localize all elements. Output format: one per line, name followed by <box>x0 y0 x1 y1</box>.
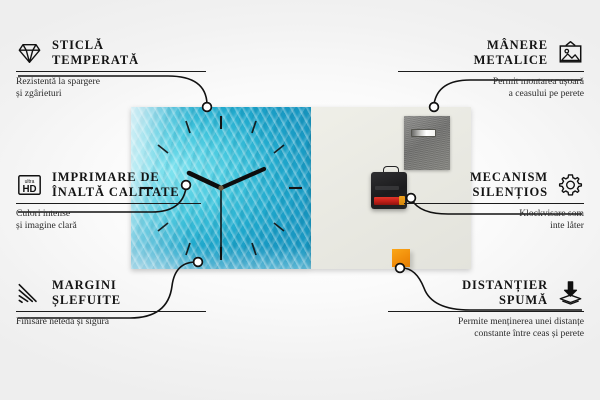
feature-title-line1: MECANISM <box>470 170 548 185</box>
feature-title-row: MARGINI ȘLEFUITE <box>16 278 206 307</box>
diamond-icon <box>16 40 43 66</box>
feature-title-line1: MARGINI <box>52 278 121 293</box>
down-arrow-layer-icon <box>557 280 584 306</box>
feature-subtitle-line1: Klockvisare som <box>404 208 584 220</box>
feature-foam-spacer: DISTANȚIER SPUMĂ Permite menținerea unei… <box>388 278 584 340</box>
feature-title-row: ultra HD IMPRIMARE DE ÎNALTĂ CALITATE <box>16 170 201 199</box>
feature-title-line1: STICLĂ <box>52 38 139 53</box>
feature-title-line2: ȘLEFUITE <box>52 293 121 308</box>
feature-title-line1: MÂNERE <box>474 38 548 53</box>
feature-high-quality-print: ultra HD IMPRIMARE DE ÎNALTĂ CALITATE Cu… <box>16 170 201 232</box>
infographic-canvas: STICLĂ TEMPERATĂ Rezistentă la spargere … <box>0 0 600 400</box>
gear-icon <box>557 172 584 198</box>
feature-title-row: MÂNERE METALICE <box>398 38 584 67</box>
hanging-frame-icon <box>557 40 584 66</box>
feature-subtitle-line1: Permit montarea ușoară <box>398 76 584 88</box>
title-divider <box>404 203 584 204</box>
title-divider <box>388 311 584 312</box>
feature-polished-edges: MARGINI ȘLEFUITE Finisare netedă și sigu… <box>16 278 206 328</box>
anchor-handles <box>430 103 439 112</box>
feature-tempered-glass: STICLĂ TEMPERATĂ Rezistentă la spargere … <box>16 38 206 100</box>
feature-title-row: MECANISM SILENȚIOS <box>404 170 584 199</box>
polished-edges-icon <box>16 280 43 306</box>
anchor-edges <box>194 258 203 267</box>
feature-title-line2: SILENȚIOS <box>470 185 548 200</box>
feature-title-line2: ÎNALTĂ CALITATE <box>52 185 180 200</box>
feature-title-line2: METALICE <box>474 53 548 68</box>
feature-subtitle-line1: Finisare netedă și sigură <box>16 316 206 328</box>
feature-title-row: STICLĂ TEMPERATĂ <box>16 38 206 67</box>
feature-silent-mechanism: MECANISM SILENȚIOS Klockvisare som inte … <box>404 170 584 232</box>
feature-title-line1: IMPRIMARE DE <box>52 170 180 185</box>
title-divider <box>398 71 584 72</box>
title-divider <box>16 311 206 312</box>
feature-subtitle-line2: a ceasului pe perete <box>398 88 584 100</box>
feature-subtitle-line1: Rezistentă la spargere <box>16 76 206 88</box>
ultra-hd-icon: ultra HD <box>16 172 43 198</box>
feature-metal-handles: MÂNERE METALICE Permit montarea ușoară a… <box>398 38 584 100</box>
feature-title-line2: TEMPERATĂ <box>52 53 139 68</box>
feature-subtitle-line1: Permite menținerea unei distanțe <box>388 316 584 328</box>
title-divider <box>16 203 201 204</box>
feature-subtitle-line2: inte låter <box>404 220 584 232</box>
feature-title-row: DISTANȚIER SPUMĂ <box>388 278 584 307</box>
anchor-spacer <box>396 264 405 273</box>
feature-subtitle-line2: constante între ceas și perete <box>388 328 584 340</box>
feature-subtitle-line2: și imagine clară <box>16 220 201 232</box>
feature-subtitle-line1: Culori intense <box>16 208 201 220</box>
ultra-hd-icon-main: HD <box>22 183 36 194</box>
feature-subtitle-line2: și zgârieturi <box>16 88 206 100</box>
title-divider <box>16 71 206 72</box>
feature-title-line1: DISTANȚIER <box>462 278 548 293</box>
feature-title-line2: SPUMĂ <box>462 293 548 308</box>
anchor-tempered-glass <box>203 103 212 112</box>
